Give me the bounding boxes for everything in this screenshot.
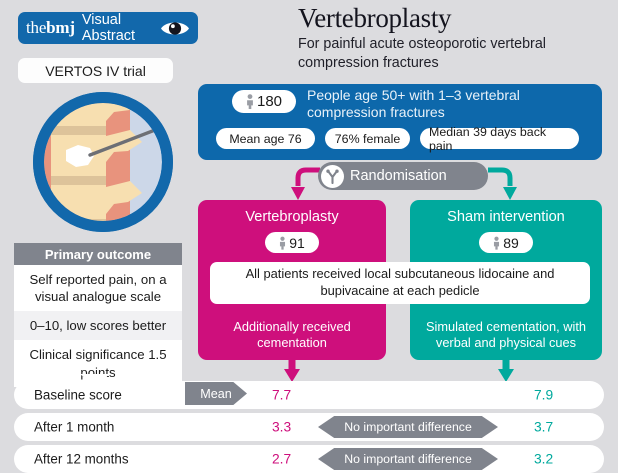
- arm-sham-count-pill: 89: [479, 232, 533, 253]
- bmj-visual-abstract-banner: thebmj Visual Abstract: [18, 12, 198, 44]
- arm-vertebroplasty-title: Vertebroplasty: [198, 209, 386, 225]
- person-icon: [493, 236, 500, 250]
- primary-outcome-header: Primary outcome: [14, 243, 182, 265]
- eye-icon: [160, 19, 190, 38]
- no-difference-banner-12-months: No important difference: [318, 448, 498, 470]
- visual-abstract-canvas: thebmj Visual Abstract VERTOS IV trial V…: [0, 0, 618, 469]
- result-label-12-months: After 12 months: [34, 452, 129, 467]
- result-label-1-month: After 1 month: [34, 420, 114, 435]
- page-subtitle: For painful acute osteoporotic vertebral…: [298, 35, 614, 72]
- result-row-baseline: Baseline score 7.7 7.9: [14, 381, 604, 409]
- bmj-logo-bmj: bmj: [46, 18, 75, 37]
- randomisation-fork-icon: [321, 165, 344, 188]
- vertebra-cement-injection-illustration: [18, 88, 188, 236]
- arm-sham-note: Simulated cementation, with verbal and p…: [410, 319, 602, 351]
- person-icon: [246, 94, 254, 109]
- arm-vertebroplasty-count: 91: [289, 235, 305, 251]
- shared-treatment-band: All patients received local subcutaneous…: [210, 262, 590, 304]
- result-value-1-month-vertebroplasty: 3.3: [272, 420, 291, 435]
- trial-name-pill: VERTOS IV trial: [18, 58, 173, 83]
- bmj-logo-the: the: [26, 18, 46, 37]
- primary-outcome-panel: Primary outcome Self reported pain, on a…: [14, 243, 182, 387]
- arm-sham-count: 89: [503, 235, 519, 251]
- result-label-baseline: Baseline score: [34, 388, 122, 403]
- title-block: Vertebroplasty For painful acute osteopo…: [298, 4, 614, 72]
- arm-sham-title: Sham intervention: [410, 209, 602, 225]
- visual-abstract-label: Visual Abstract: [82, 12, 160, 44]
- randomisation-chip: Randomisation: [318, 162, 488, 190]
- primary-outcome-line-1: Self reported pain, on a visual analogue…: [14, 265, 182, 311]
- page-title: Vertebroplasty: [298, 4, 614, 32]
- no-difference-banner-1-month: No important difference: [318, 416, 498, 438]
- randomisation-label: Randomisation: [350, 168, 447, 184]
- population-description: People age 50+ with 1–3 vertebral compre…: [307, 87, 595, 121]
- result-value-baseline-sham: 7.9: [534, 388, 553, 403]
- bmj-logo: thebmj: [26, 18, 75, 38]
- result-value-baseline-vertebroplasty: 7.7: [272, 388, 291, 403]
- stat-pill-median-back-pain: Median 39 days back pain: [420, 128, 579, 149]
- person-icon: [279, 236, 286, 250]
- arm-vertebroplasty-count-pill: 91: [265, 232, 319, 253]
- trial-name-label: VERTOS IV trial: [45, 63, 146, 79]
- result-value-1-month-sham: 3.7: [534, 420, 553, 435]
- result-value-12-months-sham: 3.2: [534, 452, 553, 467]
- stat-pill-mean-age: Mean age 76: [216, 128, 315, 149]
- arm-vertebroplasty-note: Additionally received cementation: [198, 319, 386, 351]
- population-count-pill: 180: [232, 90, 296, 113]
- result-row-1-month: After 1 month 3.3 3.7: [14, 413, 604, 441]
- population-count: 180: [257, 93, 282, 110]
- stat-pill-percent-female: 76% female: [325, 128, 410, 149]
- result-value-12-months-vertebroplasty: 2.7: [272, 452, 291, 467]
- primary-outcome-line-2: 0–10, low scores better: [14, 311, 182, 340]
